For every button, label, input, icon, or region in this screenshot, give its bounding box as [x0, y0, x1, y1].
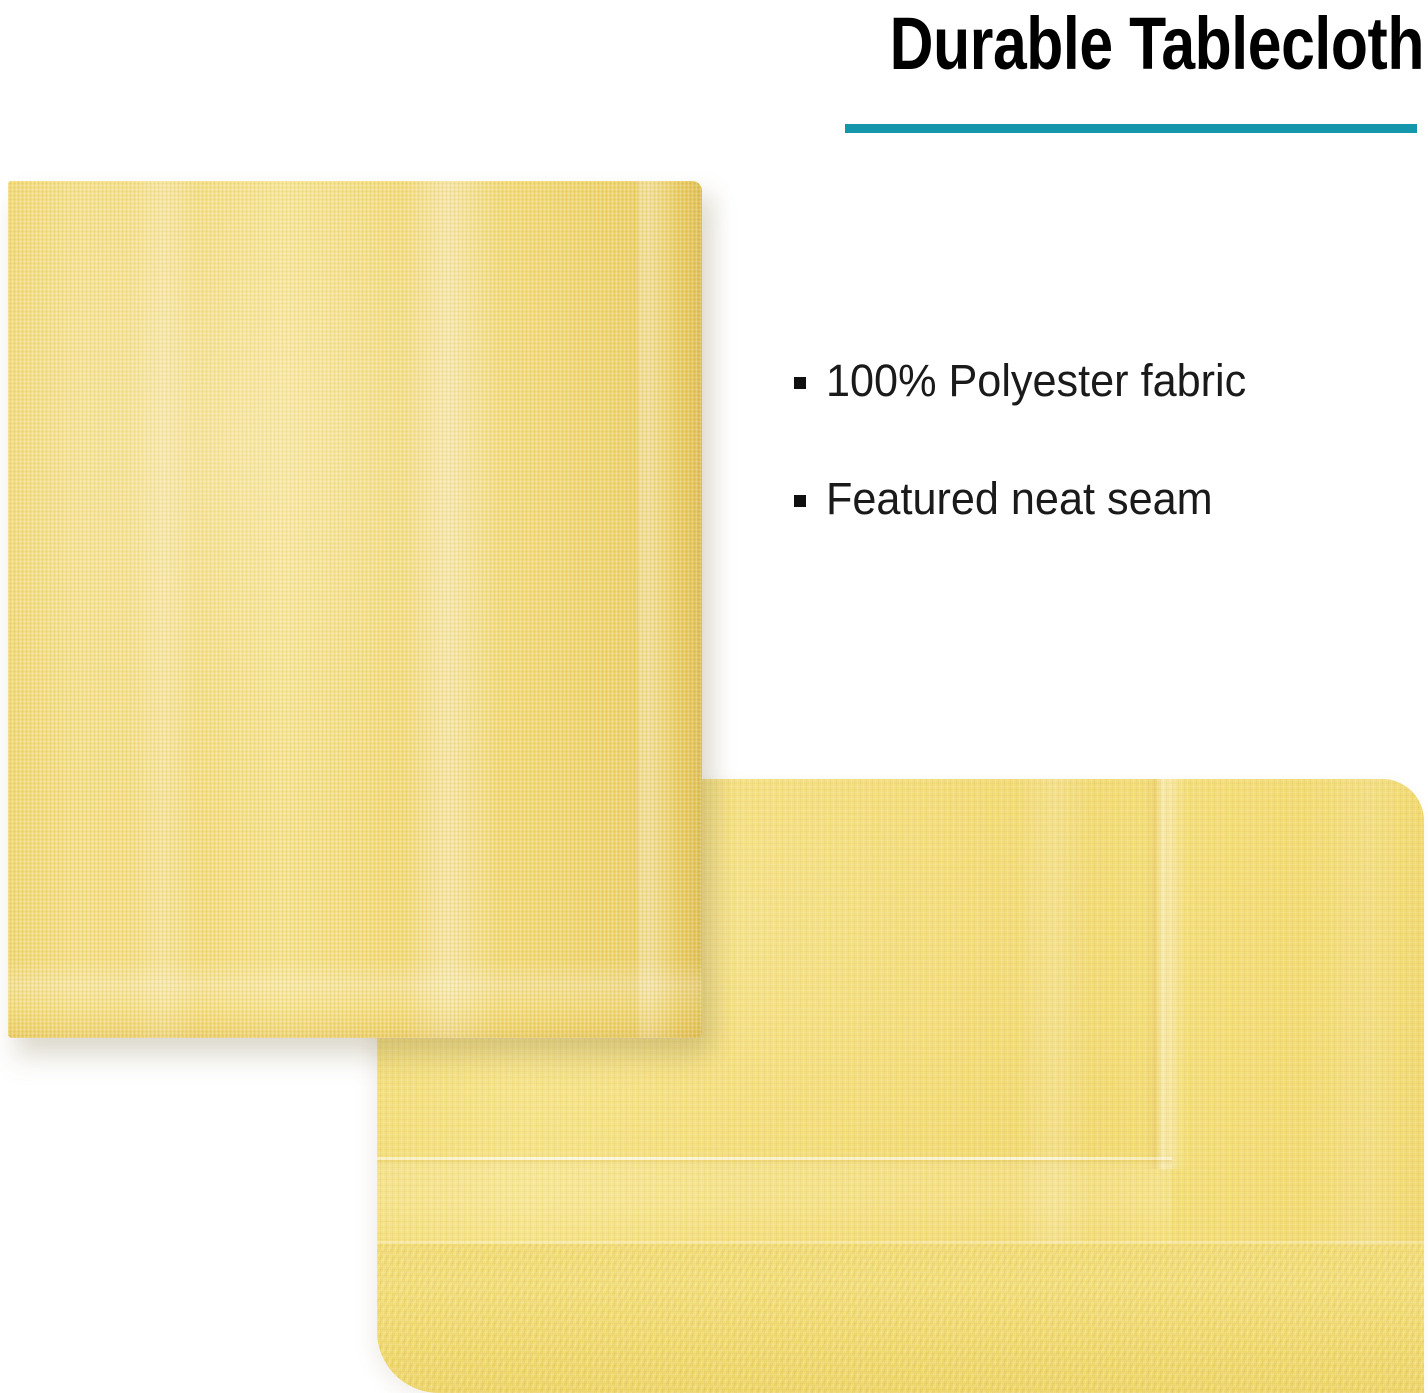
- list-item: Featured neat seam: [790, 470, 1410, 588]
- list-item: 100% Polyester fabric: [790, 352, 1410, 470]
- product-feature-banner: Durable Tablecloth 100% Polyester fabric…: [0, 0, 1428, 1393]
- feature-label: Featured neat seam: [826, 470, 1213, 528]
- title-underline-rule: [845, 124, 1417, 133]
- feature-label: 100% Polyester fabric: [826, 352, 1246, 410]
- fabric-sheen: [8, 181, 702, 1038]
- feature-list: 100% Polyester fabric Featured neat seam: [790, 352, 1410, 588]
- square-bullet-icon: [794, 377, 806, 389]
- square-bullet-icon: [794, 495, 806, 507]
- folded-tablecloth-image: [8, 181, 702, 1038]
- page-title: Durable Tablecloth: [781, 2, 1424, 86]
